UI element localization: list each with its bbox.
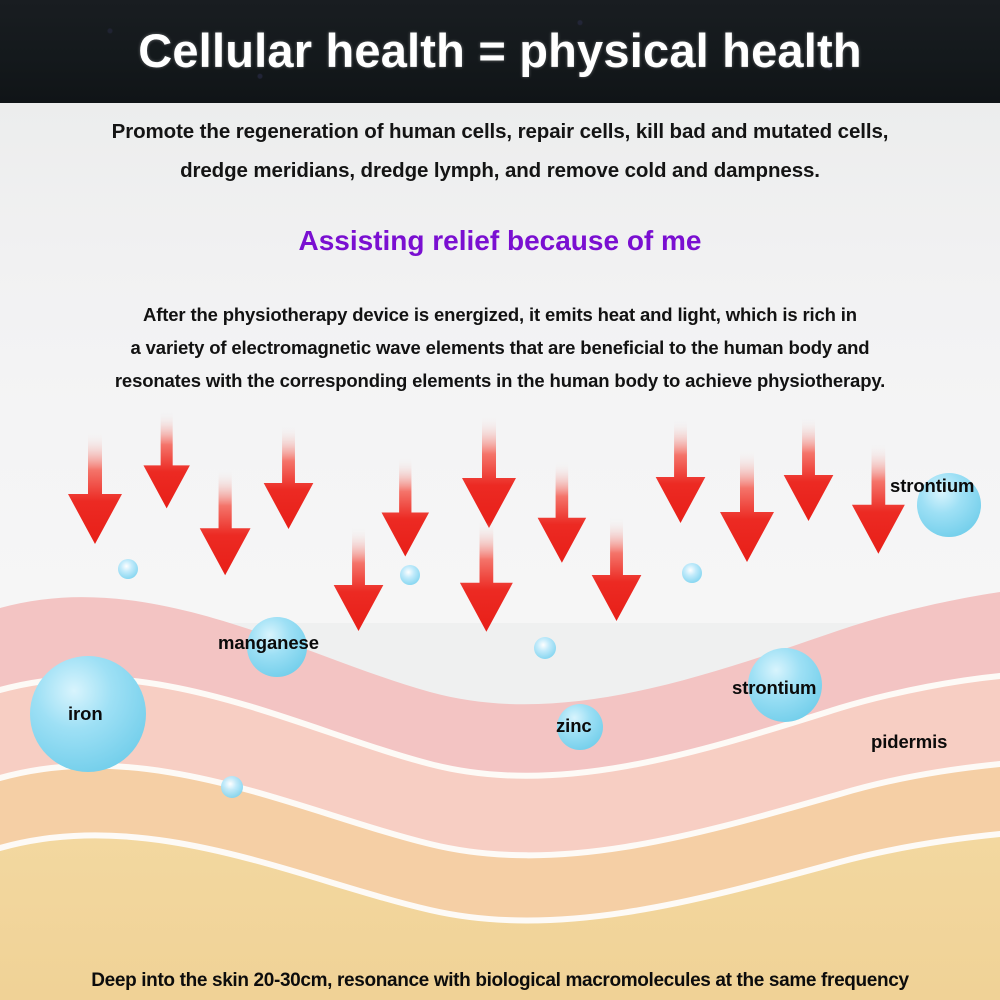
heat-arrow	[456, 522, 517, 638]
bubble-label-iron: iron	[68, 703, 103, 725]
subheading: Assisting relief because of me	[0, 219, 1000, 263]
bottom-caption: Deep into the skin 20-30cm, resonance wi…	[0, 970, 1000, 992]
heat-arrow	[652, 420, 709, 529]
intro-line-2: dredge meridians, dredge lymph, and remo…	[20, 151, 980, 190]
body-line-3: resonates with the corresponding element…	[20, 364, 980, 397]
heat-arrow	[458, 416, 520, 534]
micro-bubble	[400, 565, 420, 585]
heat-arrow	[588, 518, 645, 627]
tissue-label-pidermis: pidermis	[871, 731, 947, 753]
micro-bubble	[534, 637, 556, 659]
heat-arrow	[378, 458, 433, 562]
heat-arrow	[716, 450, 778, 568]
body-line-1: After the physiotherapy device is energi…	[20, 298, 980, 331]
page-title: Cellular health = physical health	[0, 20, 1000, 82]
infographic-poster: iron manganese zinc strontium strontium …	[0, 0, 1000, 1000]
bubble-label-strontium-air: strontium	[890, 475, 974, 497]
heat-arrow	[196, 470, 254, 581]
heat-arrow	[260, 426, 317, 535]
heat-arrow	[780, 418, 837, 527]
heat-arrow	[848, 444, 909, 560]
micro-bubble	[118, 559, 138, 579]
micro-bubble	[682, 563, 702, 583]
intro-paragraph: Promote the regeneration of human cells,…	[20, 112, 980, 190]
bubble-label-zinc: zinc	[556, 715, 592, 737]
body-line-2: a variety of electromagnetic wave elemen…	[20, 331, 980, 364]
bubble-label-manganese: manganese	[218, 632, 319, 654]
heat-arrow	[64, 432, 126, 550]
heat-arrow	[534, 462, 590, 568]
bubble-label-strontium-dermis: strontium	[732, 677, 816, 699]
intro-line-1: Promote the regeneration of human cells,…	[20, 112, 980, 151]
micro-bubble	[221, 776, 243, 798]
heat-arrow	[140, 412, 193, 513]
body-paragraph: After the physiotherapy device is energi…	[20, 298, 980, 397]
